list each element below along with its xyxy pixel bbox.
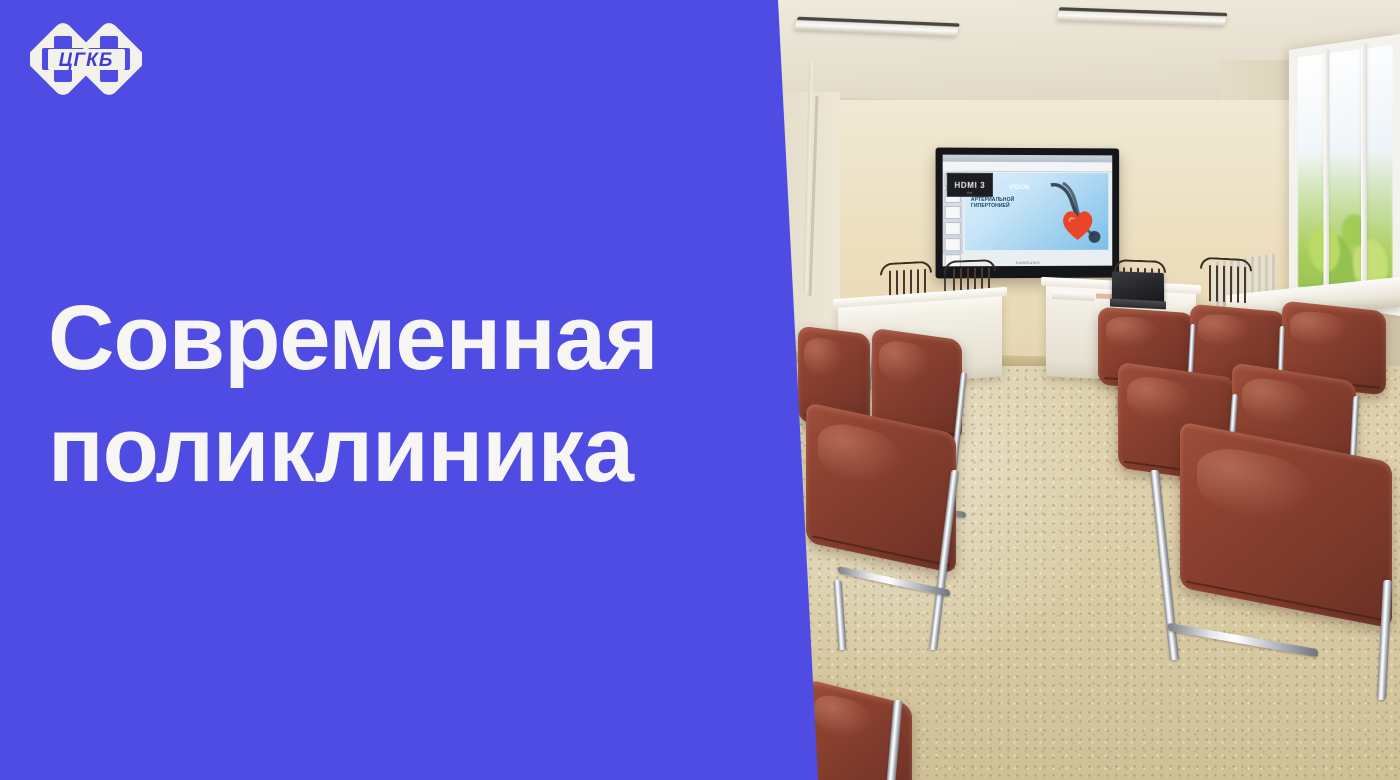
window-glass — [1298, 45, 1393, 299]
window — [1289, 34, 1400, 316]
logo-abbreviation: ЦГКБ — [59, 50, 114, 71]
window-foliage — [1298, 152, 1393, 299]
heart-icon — [1061, 209, 1095, 241]
page-title: Современная поликлиника — [48, 282, 728, 506]
slide-kicker-text: VISION — [1009, 185, 1029, 191]
blue-text-panel: ЦГКБ Современная поликлиника — [0, 0, 850, 780]
cgkb-hospital-logo: ЦГКБ — [30, 18, 142, 100]
tv-input-label: HDMI 3 — [954, 180, 985, 189]
slide-title-text: АРТЕРИАЛЬНОЙ ГИПЕРТОНИЕЙ — [971, 197, 1037, 209]
wall-tv: VISION АРТЕРИАЛЬНОЙ ГИПЕРТОНИЕЙ HDMI 3 П… — [936, 148, 1120, 279]
promo-banner: VISION АРТЕРИАЛЬНОЙ ГИПЕРТОНИЕЙ HDMI 3 П… — [0, 0, 1400, 780]
tv-input-badge: HDMI 3 ПК — [947, 173, 993, 197]
window-mullion — [1361, 44, 1367, 301]
window-mullion — [1324, 50, 1330, 297]
tv-input-sublabel: ПК — [948, 191, 992, 195]
tv-screen: VISION АРТЕРИАЛЬНОЙ ГИПЕРТОНИЕЙ HDMI 3 П… — [943, 155, 1113, 267]
tv-app-toolbar — [943, 162, 1113, 173]
wooden-chair — [1200, 257, 1252, 304]
